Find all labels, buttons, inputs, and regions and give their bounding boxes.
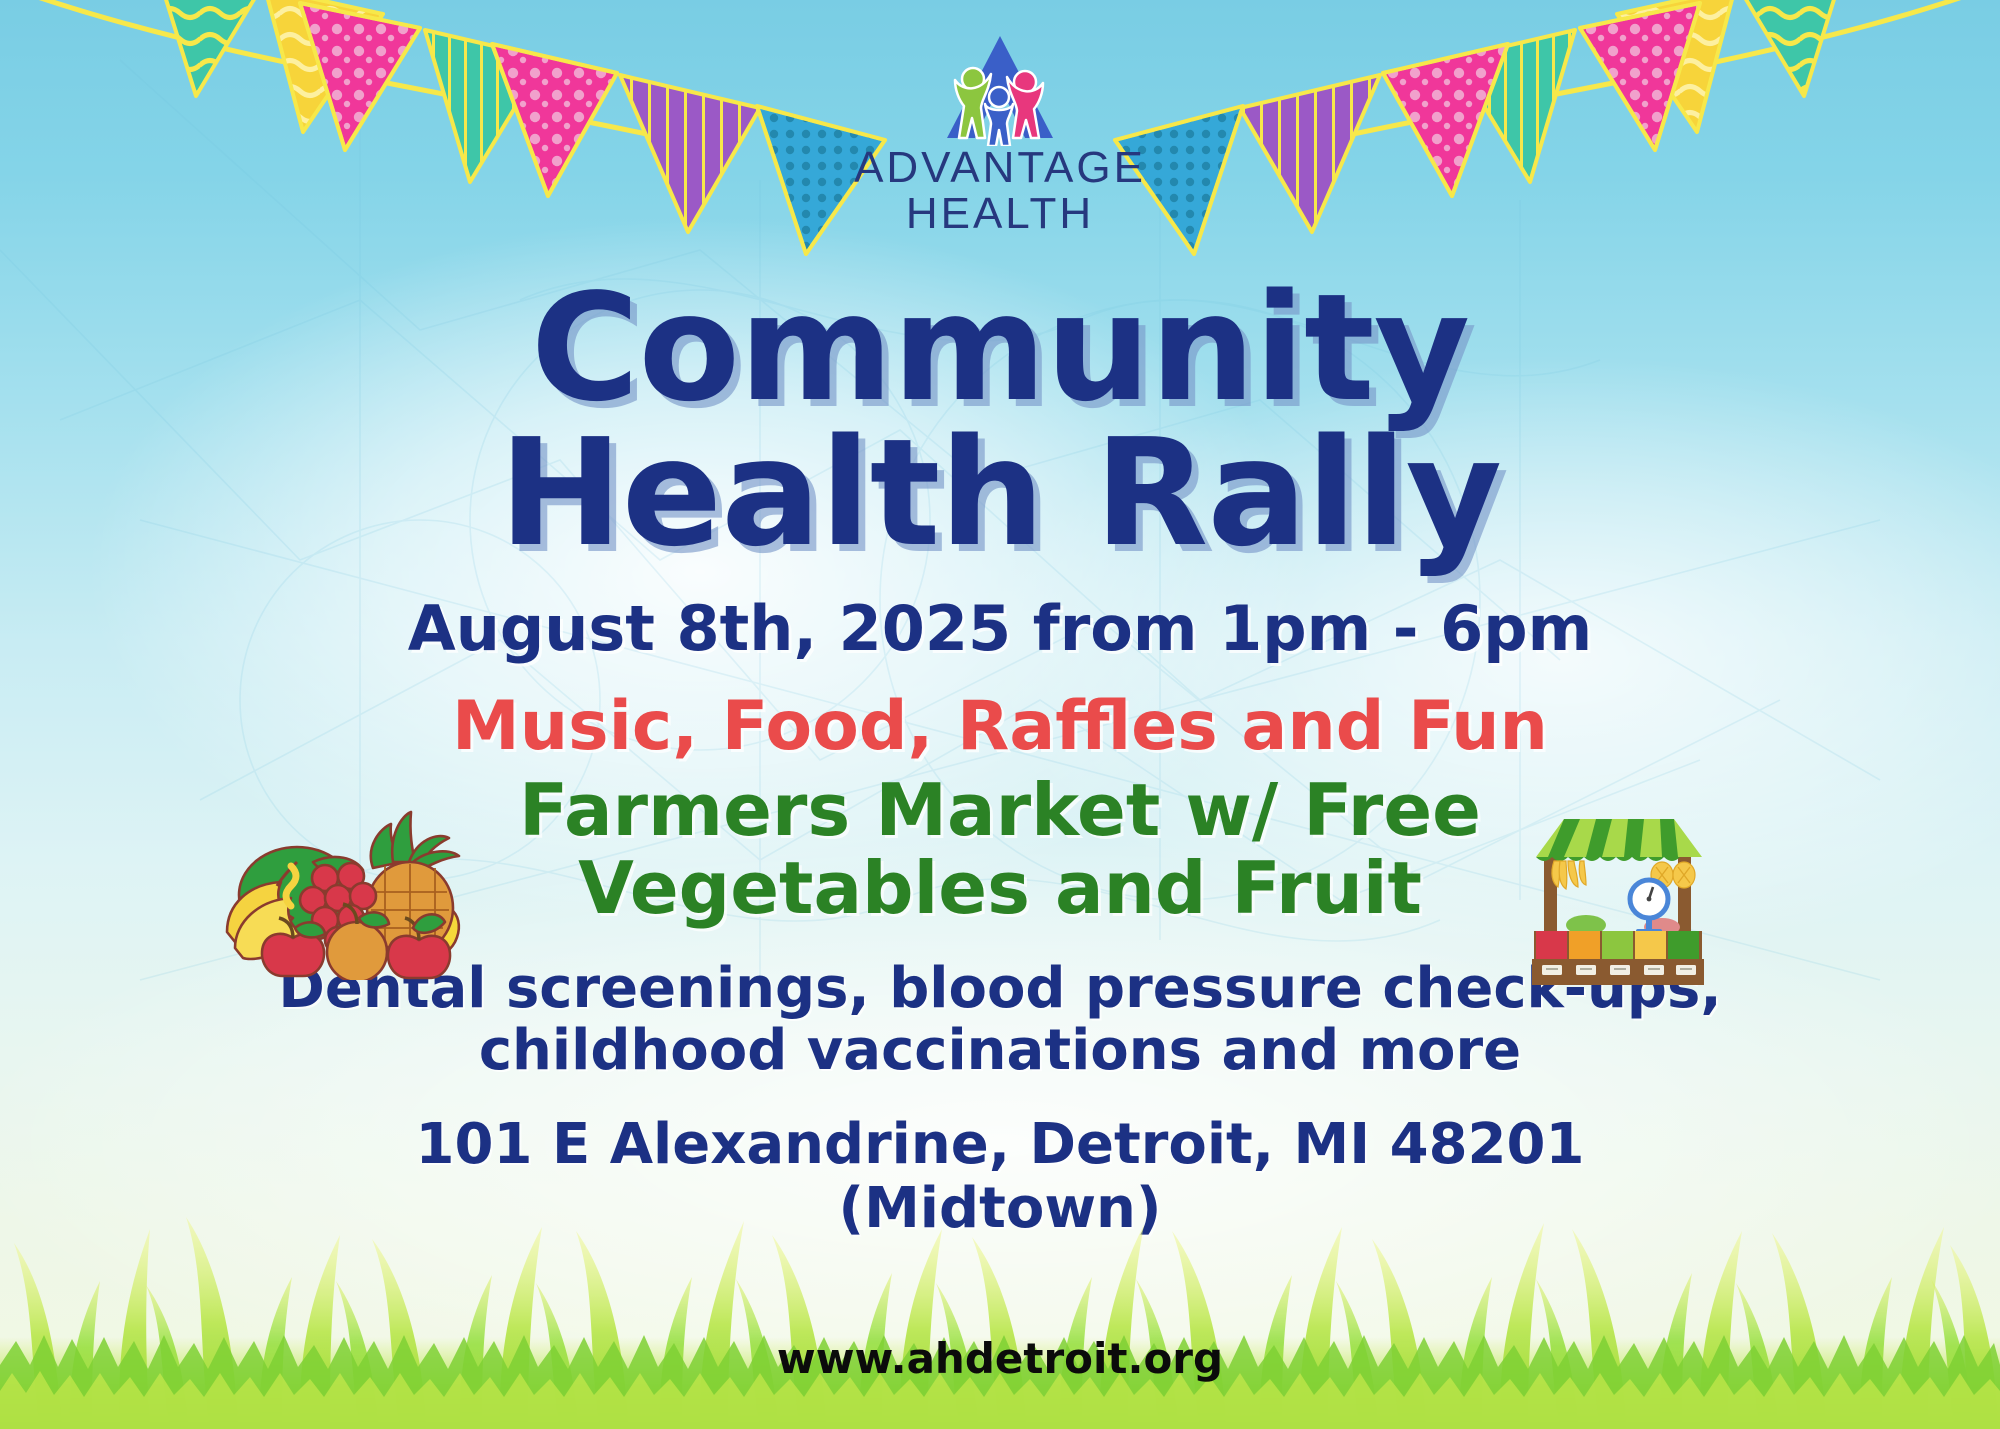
services-text: Dental screenings, blood pressure check-…	[278, 958, 1721, 1083]
fruit-basket-illustration-icon	[205, 800, 480, 980]
brand-line-1: ADVANTAGE	[854, 146, 1146, 190]
market-line-2: Vegetables and Fruit	[519, 850, 1481, 928]
advantage-health-a-logo-icon	[925, 34, 1075, 146]
title-line-1: Community	[499, 276, 1501, 421]
page-title: Community Health Rally	[499, 276, 1501, 566]
event-date-time: August 8th, 2025 from 1pm - 6pm	[408, 592, 1592, 665]
brand-logo-block: ADVANTAGE HEALTH	[0, 34, 2000, 236]
flyer-text-content: Community Health Rally August 8th, 2025 …	[0, 276, 2000, 1241]
services-line-1: Dental screenings, blood pressure check-…	[278, 958, 1721, 1021]
event-highlight-text: Music, Food, Raffles and Fun	[452, 687, 1548, 766]
farmers-market-stall-illustration-icon	[1520, 805, 1715, 985]
flyer-poster: ADVANTAGE HEALTH	[0, 0, 2000, 1429]
brand-line-2: HEALTH	[854, 192, 1146, 236]
address-line-1: 101 E Alexandrine, Detroit, MI 48201	[416, 1113, 1585, 1177]
farmers-market-text: Farmers Market w/ Free Vegetables and Fr…	[519, 772, 1481, 928]
brand-wordmark: ADVANTAGE HEALTH	[854, 146, 1146, 236]
website-url[interactable]: www.ahdetroit.org	[0, 1334, 2000, 1383]
title-line-2: Health Rally	[499, 421, 1501, 566]
services-line-2: childhood vaccinations and more	[278, 1020, 1721, 1083]
market-line-1: Farmers Market w/ Free	[519, 772, 1481, 850]
grass-border-icon	[0, 1169, 2000, 1429]
